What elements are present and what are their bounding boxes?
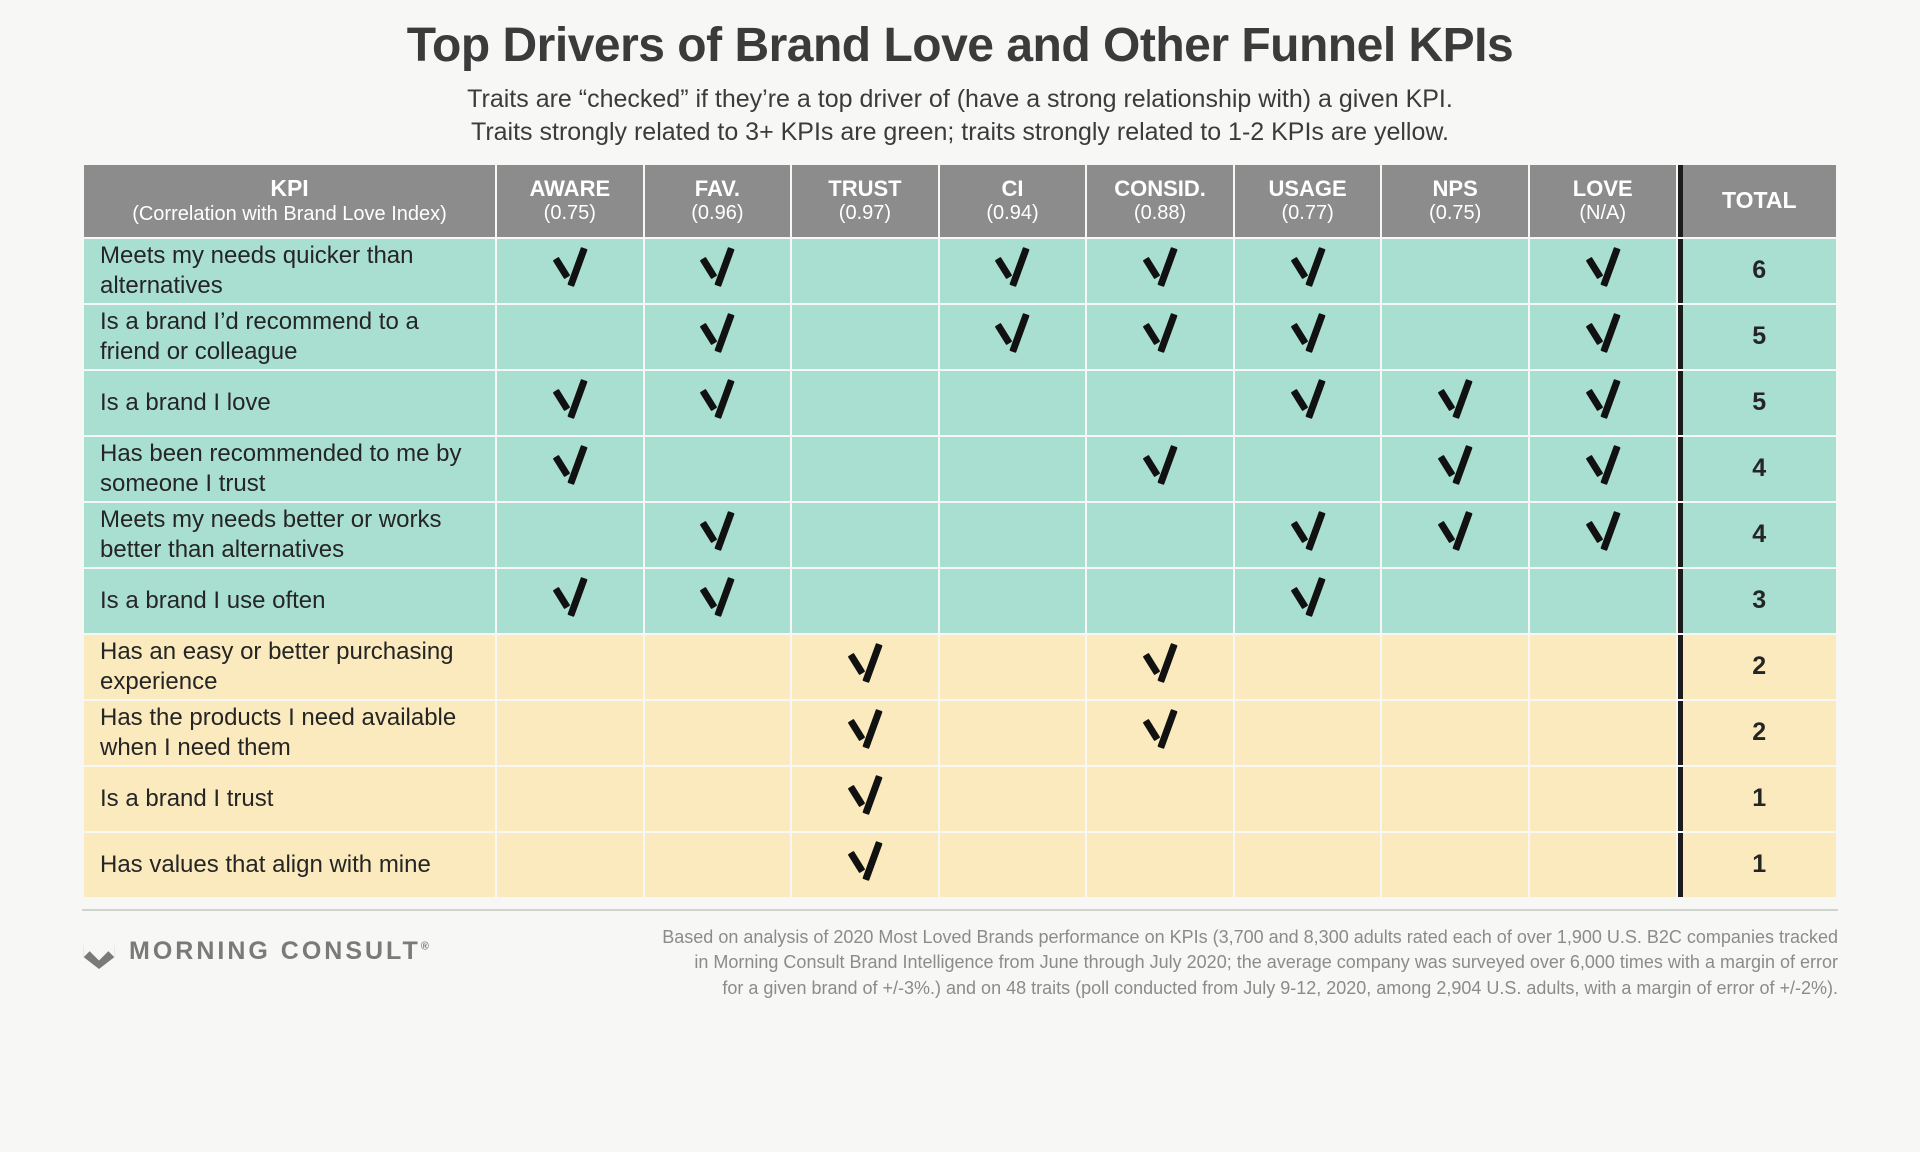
cell-empty [645,833,791,897]
check-icon [1140,710,1180,750]
check-icon [1140,446,1180,486]
check-icon [992,314,1032,354]
cell-checked [792,833,938,897]
registered-mark: ® [421,941,429,953]
column-header-correlation: (0.75) [1382,202,1528,226]
check-icon [1583,512,1623,552]
column-header-correlation: (0.96) [645,202,791,226]
cell-empty [1382,239,1528,303]
cell-empty [1382,767,1528,831]
table-row: Has the products I need available when I… [84,701,1836,765]
row-label: Is a brand I use often [84,569,495,633]
check-icon [550,446,590,486]
check-icon [1288,314,1328,354]
cell-checked [1087,305,1233,369]
row-total: 3 [1678,569,1836,633]
cell-checked [1530,503,1676,567]
check-icon [845,776,885,816]
row-label: Meets my needs better or works better th… [84,503,495,567]
cell-checked [1235,239,1381,303]
subtitle-line-2: Traits strongly related to 3+ KPIs are g… [0,116,1920,149]
table-row: Meets my needs better or works better th… [84,503,1836,567]
check-icon [550,248,590,288]
morning-consult-chevron-icon [82,935,116,969]
row-label: Has been recommended to me by someone I … [84,437,495,501]
check-icon [1140,248,1180,288]
cell-empty [1382,635,1528,699]
kpi-header-main: KPI [84,175,495,202]
check-icon [697,248,737,288]
cell-empty [497,305,643,369]
cell-empty [497,503,643,567]
cell-checked [497,437,643,501]
row-label: Has the products I need available when I… [84,701,495,765]
cell-empty [1235,437,1381,501]
cell-empty [792,305,938,369]
cell-empty [1087,371,1233,435]
column-header-label: CI [940,176,1086,202]
brand-name-text: MORNING CONSULT [129,937,421,965]
cell-empty [792,239,938,303]
column-header-label: FAV. [645,176,791,202]
check-icon [1140,644,1180,684]
cell-empty [1235,833,1381,897]
check-icon [697,314,737,354]
cell-empty [1382,833,1528,897]
check-icon [992,248,1032,288]
cell-checked [792,701,938,765]
cell-empty [792,437,938,501]
row-label: Is a brand I love [84,371,495,435]
cell-checked [792,635,938,699]
check-icon [1288,248,1328,288]
row-total: 5 [1678,371,1836,435]
column-header-correlation: (0.94) [940,202,1086,226]
kpi-header-sub: (Correlation with Brand Love Index) [84,203,495,227]
kpi-table-wrap: KPI (Correlation with Brand Love Index) … [82,163,1838,899]
cell-checked [497,569,643,633]
cell-checked [1087,239,1233,303]
cell-empty [497,767,643,831]
page-title: Top Drivers of Brand Love and Other Funn… [0,20,1920,73]
footer: MORNING CONSULT® Based on analysis of 20… [82,911,1838,1002]
check-icon [845,644,885,684]
row-total: 4 [1678,503,1836,567]
cell-checked [1530,371,1676,435]
table-row: Has values that align with mine1 [84,833,1836,897]
column-header-label: LOVE [1530,176,1676,202]
table-header: KPI (Correlation with Brand Love Index) … [84,165,1836,237]
check-icon [697,578,737,618]
check-icon [1583,314,1623,354]
cell-checked [1087,701,1233,765]
cell-empty [1235,635,1381,699]
cell-empty [1087,767,1233,831]
column-header-correlation: (0.88) [1087,202,1233,226]
column-header-label: AWARE [497,176,643,202]
column-header-label: TRUST [792,176,938,202]
table-row: Meets my needs quicker than alternatives… [84,239,1836,303]
cell-checked [1382,437,1528,501]
row-total: 2 [1678,635,1836,699]
cell-empty [940,833,1086,897]
column-header-correlation: (N/A) [1530,202,1676,226]
cell-checked [1087,635,1233,699]
table-row: Is a brand I’d recommend to a friend or … [84,305,1836,369]
table-row: Is a brand I use often3 [84,569,1836,633]
check-icon [697,512,737,552]
table-row: Is a brand I love5 [84,371,1836,435]
check-icon [1435,380,1475,420]
check-icon [1435,446,1475,486]
cell-empty [940,569,1086,633]
table-row: Is a brand I trust1 [84,767,1836,831]
cell-empty [497,701,643,765]
cell-checked [645,239,791,303]
cell-checked [1087,437,1233,501]
cell-empty [1530,701,1676,765]
check-icon [1583,380,1623,420]
cell-checked [1382,503,1528,567]
row-total: 4 [1678,437,1836,501]
column-header-total: TOTAL [1678,165,1836,237]
check-icon [845,842,885,882]
cell-empty [1530,635,1676,699]
cell-checked [1530,305,1676,369]
row-label: Has values that align with mine [84,833,495,897]
check-icon [845,710,885,750]
source-line-2: in Morning Consult Brand Intelligence fr… [489,950,1838,976]
column-header-fav: FAV.(0.96) [645,165,791,237]
cell-empty [497,833,643,897]
cell-empty [1235,701,1381,765]
subtitle-line-1: Traits are “checked” if they’re a top dr… [0,83,1920,116]
check-icon [1288,512,1328,552]
cell-empty [940,701,1086,765]
check-icon [1583,446,1623,486]
row-total: 6 [1678,239,1836,303]
check-icon [1288,578,1328,618]
column-header-nps: NPS(0.75) [1382,165,1528,237]
cell-checked [1530,239,1676,303]
cell-empty [940,371,1086,435]
cell-empty [1530,569,1676,633]
row-total: 5 [1678,305,1836,369]
source-line-1: Based on analysis of 2020 Most Loved Bra… [489,925,1838,951]
brand-name: MORNING CONSULT® [129,937,429,966]
chart-subtitle: Traits are “checked” if they’re a top dr… [0,83,1920,149]
cell-empty [645,767,791,831]
cell-empty [940,635,1086,699]
cell-empty [940,767,1086,831]
title-block: Top Drivers of Brand Love and Other Funn… [0,0,1920,149]
row-label: Is a brand I’d recommend to a friend or … [84,305,495,369]
cell-checked [1382,371,1528,435]
cell-empty [1235,767,1381,831]
cell-empty [792,569,938,633]
cell-empty [1530,767,1676,831]
table-row: Has an easy or better purchasing experie… [84,635,1836,699]
table-row: Has been recommended to me by someone I … [84,437,1836,501]
check-icon [1288,380,1328,420]
cell-empty [497,635,643,699]
check-icon [1435,512,1475,552]
column-header-trust: TRUST(0.97) [792,165,938,237]
column-header-aware: AWARE(0.75) [497,165,643,237]
column-header-kpi: KPI (Correlation with Brand Love Index) [84,165,495,237]
cell-checked [497,239,643,303]
column-header-label: USAGE [1235,176,1381,202]
cell-checked [792,767,938,831]
cell-checked [645,305,791,369]
cell-checked [645,371,791,435]
cell-empty [1087,833,1233,897]
column-header-correlation: (0.97) [792,202,938,226]
cell-checked [940,305,1086,369]
check-icon [550,380,590,420]
cell-checked [1235,503,1381,567]
column-header-correlation: (0.77) [1235,202,1381,226]
cell-empty [940,503,1086,567]
cell-checked [497,371,643,435]
column-header-ci: CI(0.94) [940,165,1086,237]
brand-logo: MORNING CONSULT® [82,925,429,969]
check-icon [1140,314,1180,354]
header-row: KPI (Correlation with Brand Love Index) … [84,165,1836,237]
check-icon [1583,248,1623,288]
cell-empty [1530,833,1676,897]
row-total: 1 [1678,833,1836,897]
table-body: Meets my needs quicker than alternatives… [84,239,1836,897]
column-header-label: NPS [1382,176,1528,202]
infographic-root: Top Drivers of Brand Love and Other Funn… [0,0,1920,1152]
cell-empty [645,701,791,765]
column-header-correlation: (0.75) [497,202,643,226]
cell-empty [645,635,791,699]
row-label: Has an easy or better purchasing experie… [84,635,495,699]
cell-checked [1235,371,1381,435]
cell-checked [1530,437,1676,501]
row-label: Is a brand I trust [84,767,495,831]
check-icon [550,578,590,618]
check-icon [697,380,737,420]
cell-checked [1235,305,1381,369]
cell-empty [1087,569,1233,633]
cell-checked [1235,569,1381,633]
cell-empty [792,503,938,567]
cell-checked [645,503,791,567]
row-total: 1 [1678,767,1836,831]
cell-empty [940,437,1086,501]
cell-empty [1087,503,1233,567]
column-header-label: CONSID. [1087,176,1233,202]
cell-empty [1382,305,1528,369]
cell-empty [1382,701,1528,765]
source-note: Based on analysis of 2020 Most Loved Bra… [429,925,1838,1002]
cell-empty [1382,569,1528,633]
cell-checked [645,569,791,633]
cell-checked [940,239,1086,303]
cell-empty [645,437,791,501]
source-line-3: for a given brand of +/-3%.) and on 48 t… [489,976,1838,1002]
cell-empty [792,371,938,435]
row-label: Meets my needs quicker than alternatives [84,239,495,303]
row-total: 2 [1678,701,1836,765]
column-header-love: LOVE(N/A) [1530,165,1676,237]
kpi-table: KPI (Correlation with Brand Love Index) … [82,163,1838,899]
column-header-usage: USAGE(0.77) [1235,165,1381,237]
column-header-consid: CONSID.(0.88) [1087,165,1233,237]
